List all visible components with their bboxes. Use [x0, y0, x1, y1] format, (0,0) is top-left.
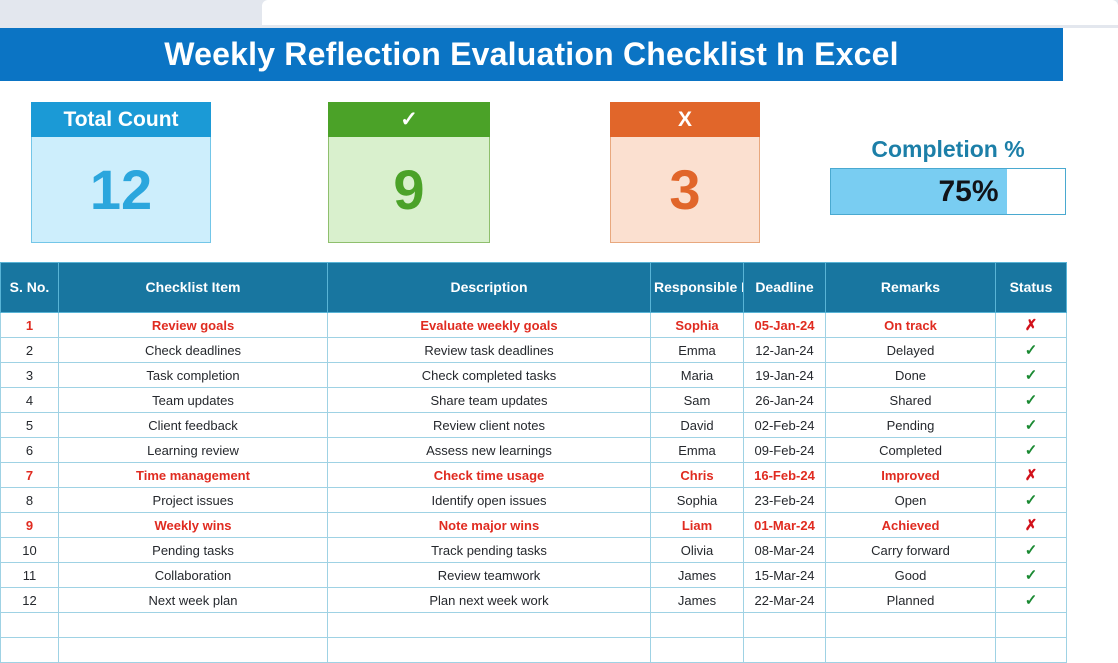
cell-status[interactable]: ✓ [996, 388, 1067, 413]
status-check-icon: ✓ [1025, 567, 1038, 584]
table-row[interactable]: 6Learning reviewAssess new learningsEmma… [1, 438, 1067, 463]
cell-item[interactable]: Project issues [59, 488, 328, 513]
cell-desc[interactable]: Check time usage [328, 463, 651, 488]
cell-deadline[interactable]: 22-Mar-24 [744, 588, 826, 613]
cell-desc[interactable]: Review task deadlines [328, 338, 651, 363]
cell-desc[interactable]: Assess new learnings [328, 438, 651, 463]
cell-sno[interactable]: 2 [1, 338, 59, 363]
completion-progress-bar: 75% [830, 168, 1066, 215]
cell-sno[interactable]: 11 [1, 563, 59, 588]
cell-remarks[interactable]: Planned [826, 588, 996, 613]
cell-deadline[interactable]: 12-Jan-24 [744, 338, 826, 363]
cell-remarks[interactable]: On track [826, 313, 996, 338]
cell-remarks[interactable]: Delayed [826, 338, 996, 363]
cell-status[interactable]: ✓ [996, 438, 1067, 463]
cell-status[interactable]: ✓ [996, 588, 1067, 613]
cell-status[interactable]: ✗ [996, 513, 1067, 538]
kpi-total-count-value: 12 [90, 162, 152, 218]
cell-remarks[interactable]: Done [826, 363, 996, 388]
cell-status[interactable]: ✓ [996, 338, 1067, 363]
column-header-person[interactable]: Responsible Person [651, 263, 744, 313]
kpi-passed-count-value: 9 [393, 162, 424, 218]
cell-item[interactable]: Team updates [59, 388, 328, 413]
cell-empty[interactable] [744, 638, 826, 663]
cell-person[interactable]: Maria [651, 363, 744, 388]
cell-sno[interactable]: 10 [1, 538, 59, 563]
table-row-empty[interactable] [1, 613, 1067, 638]
cell-deadline[interactable]: 08-Mar-24 [744, 538, 826, 563]
cell-empty[interactable] [826, 638, 996, 663]
column-header-desc[interactable]: Description [328, 263, 651, 313]
cell-item[interactable]: Check deadlines [59, 338, 328, 363]
cell-item[interactable]: Review goals [59, 313, 328, 338]
kpi-card-total-count: Total Count 12 [31, 102, 211, 243]
cell-status[interactable]: ✓ [996, 413, 1067, 438]
cell-item[interactable]: Weekly wins [59, 513, 328, 538]
cell-person[interactable]: Emma [651, 438, 744, 463]
cell-person[interactable]: James [651, 588, 744, 613]
cell-remarks[interactable]: Achieved [826, 513, 996, 538]
table-row[interactable]: 10Pending tasksTrack pending tasksOlivia… [1, 538, 1067, 563]
cell-deadline[interactable]: 16-Feb-24 [744, 463, 826, 488]
kpi-failed-count-value: 3 [669, 162, 700, 218]
cell-deadline[interactable]: 15-Mar-24 [744, 563, 826, 588]
table-row[interactable]: 1Review goalsEvaluate weekly goalsSophia… [1, 313, 1067, 338]
table-row[interactable]: 5Client feedbackReview client notesDavid… [1, 413, 1067, 438]
kpi-failed-count-body: 3 [610, 137, 760, 243]
cell-person[interactable]: Sophia [651, 313, 744, 338]
checklist-table: S. No. Checklist Item Description Respon… [0, 262, 1067, 663]
browser-chrome-strip [0, 0, 1118, 28]
kpi-card-passed-count: ✓ 9 [328, 102, 490, 243]
completion-gauge: Completion % 75% [830, 136, 1066, 215]
cell-item[interactable]: Client feedback [59, 413, 328, 438]
cell-remarks[interactable]: Open [826, 488, 996, 513]
status-check-icon: ✓ [1025, 417, 1038, 434]
cell-remarks[interactable]: Shared [826, 388, 996, 413]
cell-status[interactable]: ✓ [996, 488, 1067, 513]
spreadsheet-canvas: Weekly Reflection Evaluation Checklist I… [0, 28, 1118, 642]
status-check-icon: ✓ [1025, 342, 1038, 359]
cell-sno[interactable]: 12 [1, 588, 59, 613]
table-row[interactable]: 8Project issuesIdentify open issuesSophi… [1, 488, 1067, 513]
cell-person[interactable]: Chris [651, 463, 744, 488]
column-header-deadline[interactable]: Deadline [744, 263, 826, 313]
column-header-sno[interactable]: S. No. [1, 263, 59, 313]
cell-empty[interactable] [651, 613, 744, 638]
cell-item[interactable]: Time management [59, 463, 328, 488]
cell-empty[interactable] [59, 638, 328, 663]
cell-remarks[interactable]: Carry forward [826, 538, 996, 563]
table-body: 1Review goalsEvaluate weekly goalsSophia… [1, 313, 1067, 663]
cell-person[interactable]: Sam [651, 388, 744, 413]
column-header-remarks[interactable]: Remarks [826, 263, 996, 313]
cell-status[interactable]: ✓ [996, 538, 1067, 563]
browser-tab[interactable] [262, 0, 1118, 25]
cell-deadline[interactable]: 19-Jan-24 [744, 363, 826, 388]
cell-person[interactable]: Olivia [651, 538, 744, 563]
table-header-row: S. No. Checklist Item Description Respon… [1, 263, 1067, 313]
cell-desc[interactable]: Check completed tasks [328, 363, 651, 388]
cell-desc[interactable]: Track pending tasks [328, 538, 651, 563]
table-row[interactable]: 4Team updatesShare team updatesSam26-Jan… [1, 388, 1067, 413]
cell-deadline[interactable]: 05-Jan-24 [744, 313, 826, 338]
status-cross-icon: ✗ [1025, 467, 1038, 484]
status-check-icon: ✓ [1025, 442, 1038, 459]
cell-empty[interactable] [651, 638, 744, 663]
cell-item[interactable]: Collaboration [59, 563, 328, 588]
cell-remarks[interactable]: Good [826, 563, 996, 588]
cell-item[interactable]: Task completion [59, 363, 328, 388]
cell-empty[interactable] [1, 613, 59, 638]
column-header-status[interactable]: Status [996, 263, 1067, 313]
cell-empty[interactable] [996, 638, 1067, 663]
completion-label: Completion % [830, 136, 1066, 163]
status-check-icon: ✓ [1025, 592, 1038, 609]
page-title: Weekly Reflection Evaluation Checklist I… [164, 36, 898, 73]
cell-item[interactable]: Learning review [59, 438, 328, 463]
cell-desc[interactable]: Note major wins [328, 513, 651, 538]
cell-empty[interactable] [59, 613, 328, 638]
cell-remarks[interactable]: Pending [826, 413, 996, 438]
kpi-card-failed-count: X 3 [610, 102, 760, 243]
cell-sno[interactable]: 7 [1, 463, 59, 488]
status-check-icon: ✓ [1025, 542, 1038, 559]
cell-sno[interactable]: 1 [1, 313, 59, 338]
cell-sno[interactable]: 6 [1, 438, 59, 463]
cell-desc[interactable]: Evaluate weekly goals [328, 313, 651, 338]
completion-percent-value: 75% [831, 169, 1007, 214]
cell-deadline[interactable]: 01-Mar-24 [744, 513, 826, 538]
cell-person[interactable]: David [651, 413, 744, 438]
cell-empty[interactable] [744, 613, 826, 638]
column-header-item[interactable]: Checklist Item [59, 263, 328, 313]
cell-empty[interactable] [1, 638, 59, 663]
status-cross-icon: ✗ [1025, 317, 1038, 334]
cell-item[interactable]: Next week plan [59, 588, 328, 613]
cell-sno[interactable]: 8 [1, 488, 59, 513]
cell-sno[interactable]: 3 [1, 363, 59, 388]
cell-deadline[interactable]: 23-Feb-24 [744, 488, 826, 513]
cell-deadline[interactable]: 09-Feb-24 [744, 438, 826, 463]
cell-person[interactable]: Liam [651, 513, 744, 538]
cell-sno[interactable]: 9 [1, 513, 59, 538]
cell-desc[interactable]: Plan next week work [328, 588, 651, 613]
cell-person[interactable]: James [651, 563, 744, 588]
title-banner: Weekly Reflection Evaluation Checklist I… [0, 28, 1063, 81]
cell-sno[interactable]: 4 [1, 388, 59, 413]
cell-empty[interactable] [328, 638, 651, 663]
table-row[interactable]: 2Check deadlinesReview task deadlinesEmm… [1, 338, 1067, 363]
status-check-icon: ✓ [1025, 492, 1038, 509]
status-check-icon: ✓ [1025, 392, 1038, 409]
cell-empty[interactable] [996, 613, 1067, 638]
table-row-empty[interactable] [1, 638, 1067, 663]
cell-item[interactable]: Pending tasks [59, 538, 328, 563]
status-cross-icon: ✗ [1025, 517, 1038, 534]
table-row[interactable]: 12Next week planPlan next week workJames… [1, 588, 1067, 613]
table-row[interactable]: 3Task completionCheck completed tasksMar… [1, 363, 1067, 388]
cell-desc[interactable]: Share team updates [328, 388, 651, 413]
cell-deadline[interactable]: 02-Feb-24 [744, 413, 826, 438]
cell-desc[interactable]: Review teamwork [328, 563, 651, 588]
cell-status[interactable]: ✓ [996, 563, 1067, 588]
status-check-icon: ✓ [1025, 367, 1038, 384]
kpi-passed-count-body: 9 [328, 137, 490, 243]
cell-status[interactable]: ✗ [996, 463, 1067, 488]
table-row[interactable]: 9Weekly winsNote major winsLiam01-Mar-24… [1, 513, 1067, 538]
cell-desc[interactable]: Identify open issues [328, 488, 651, 513]
cell-status[interactable]: ✗ [996, 313, 1067, 338]
cell-remarks[interactable]: Improved [826, 463, 996, 488]
cell-status[interactable]: ✓ [996, 363, 1067, 388]
table-row[interactable]: 11CollaborationReview teamworkJames15-Ma… [1, 563, 1067, 588]
cell-deadline[interactable]: 26-Jan-24 [744, 388, 826, 413]
cross-icon: X [610, 102, 760, 137]
cell-desc[interactable]: Review client notes [328, 413, 651, 438]
check-icon: ✓ [328, 102, 490, 137]
cell-empty[interactable] [826, 613, 996, 638]
cell-sno[interactable]: 5 [1, 413, 59, 438]
kpi-total-count-body: 12 [31, 137, 211, 243]
kpi-total-count-label: Total Count [31, 102, 211, 137]
cell-remarks[interactable]: Completed [826, 438, 996, 463]
cell-person[interactable]: Sophia [651, 488, 744, 513]
table-row[interactable]: 7Time managementCheck time usageChris16-… [1, 463, 1067, 488]
cell-empty[interactable] [328, 613, 651, 638]
cell-person[interactable]: Emma [651, 338, 744, 363]
